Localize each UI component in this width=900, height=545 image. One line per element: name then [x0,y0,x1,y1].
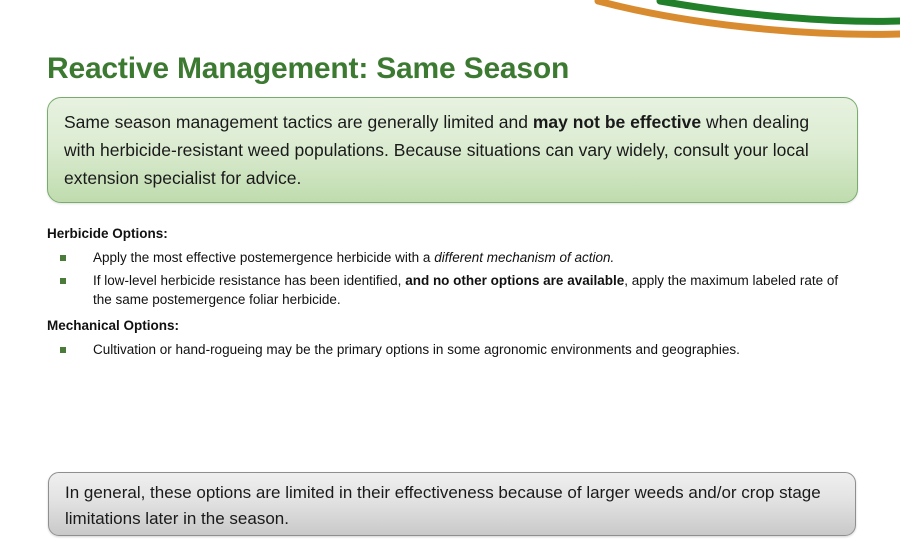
bullet-text-part-1: Apply the most effective postemergence h… [93,250,434,265]
bullet-text-bold: and no other options are available [405,273,624,288]
green-callout-box: Same season management tactics are gener… [47,97,858,203]
green-callout-text: Same season management tactics are gener… [64,108,841,192]
body-content: Herbicide Options: Apply the most effect… [47,226,857,363]
list-item: Apply the most effective postemergence h… [47,248,857,267]
section-heading-herbicide-options: Herbicide Options: [47,226,857,242]
bullet-list-mechanical-options: Cultivation or hand-rogueing may be the … [47,340,857,359]
bullet-square-icon [60,278,66,284]
list-item: If low-level herbicide resistance has be… [47,271,857,309]
bullet-text-italic: different mechanism of action. [434,250,614,265]
gray-callout-box: In general, these options are limited in… [48,472,856,536]
bullet-list-herbicide-options: Apply the most effective postemergence h… [47,248,857,309]
list-item: Cultivation or hand-rogueing may be the … [47,340,857,359]
page-title: Reactive Management: Same Season [47,53,569,85]
bullet-text-part-1: If low-level herbicide resistance has be… [93,273,405,288]
bullet-square-icon [60,255,66,261]
green-callout-part-1: Same season management tactics are gener… [64,112,533,132]
bullet-text-part-1: Cultivation or hand-rogueing may be the … [93,342,740,357]
swoosh-orange-arc [598,1,900,34]
swoosh-decoration [0,0,900,40]
swoosh-green-arc [660,1,900,21]
bullet-square-icon [60,347,66,353]
green-callout-bold: may not be effective [533,112,701,132]
section-heading-mechanical-options: Mechanical Options: [47,318,857,334]
gray-callout-text: In general, these options are limited in… [65,480,839,532]
